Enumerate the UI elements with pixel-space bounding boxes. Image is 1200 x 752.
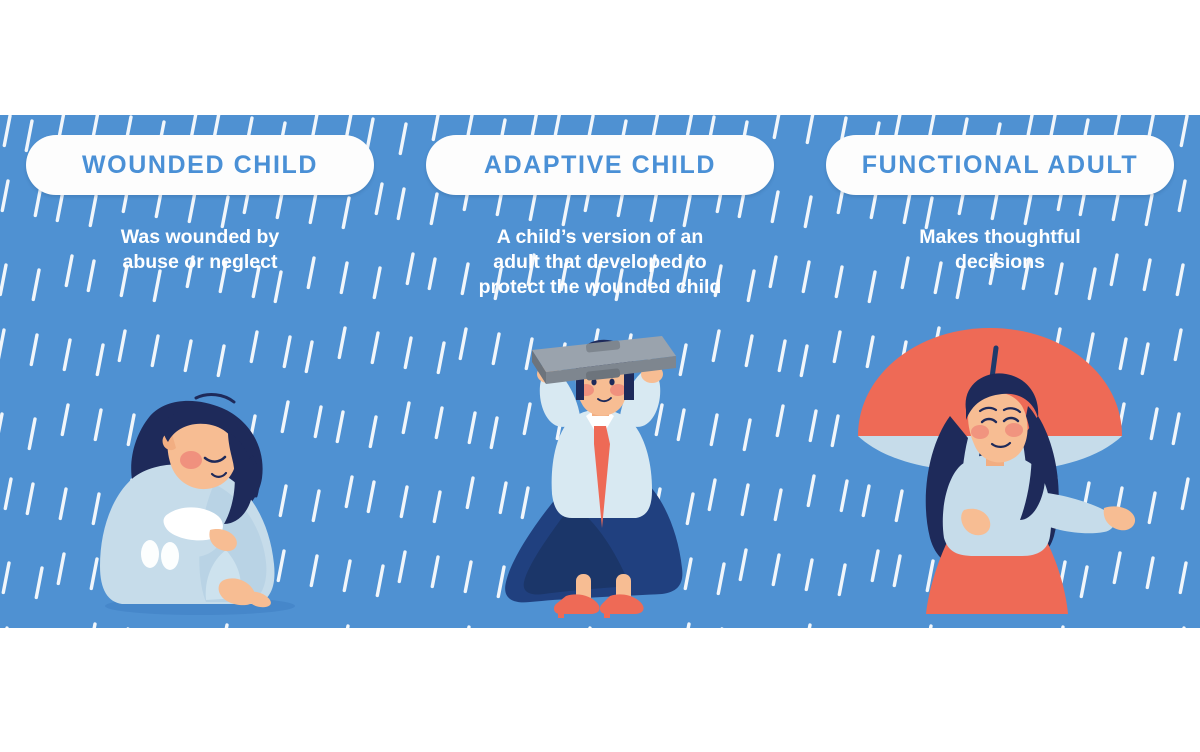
illustration-seated-girl-hugging-knees (0, 298, 400, 628)
panel-functional-adult: FUNCTIONAL ADULT Makes thoughtful decisi… (800, 115, 1200, 628)
eye-right (609, 379, 614, 386)
blush-right (610, 384, 626, 396)
heel-left (558, 608, 564, 618)
dress-fold-right (161, 542, 179, 570)
panel-title: FUNCTIONAL ADULT (862, 153, 1139, 178)
panel-wounded-child: WOUNDED CHILD Was wounded by abuse or ne… (0, 115, 400, 628)
blush-left (971, 425, 989, 439)
title-pill-functional-adult[interactable]: FUNCTIONAL ADULT (826, 135, 1174, 195)
hair-wisp-top (196, 395, 234, 402)
panel-caption: Was wounded by abuse or neglect (35, 225, 365, 275)
blush (180, 451, 202, 469)
title-pill-adaptive-child[interactable]: ADAPTIVE CHILD (426, 135, 774, 195)
panel-caption: Makes thoughtful decisions (835, 225, 1165, 275)
title-pill-wounded-child[interactable]: WOUNDED CHILD (26, 135, 374, 195)
blue-background-band: WOUNDED CHILD Was wounded by abuse or ne… (0, 115, 1200, 628)
illustration-woman-with-umbrella (800, 298, 1200, 628)
panel-caption: A child’s version of an adult that devel… (435, 225, 765, 300)
blush-right (1005, 423, 1023, 437)
dress-fold-left (141, 540, 159, 568)
panel-title: WOUNDED CHILD (82, 153, 318, 178)
panel-title: ADAPTIVE CHILD (484, 153, 716, 178)
illustration-woman-holding-briefcase-overhead (400, 298, 800, 628)
infographic-root: WOUNDED CHILD Was wounded by abuse or ne… (0, 0, 1200, 752)
panel-adaptive-child: ADAPTIVE CHILD A child’s version of an a… (400, 115, 800, 628)
panel-row: WOUNDED CHILD Was wounded by abuse or ne… (0, 115, 1200, 628)
heel-right (604, 608, 610, 618)
